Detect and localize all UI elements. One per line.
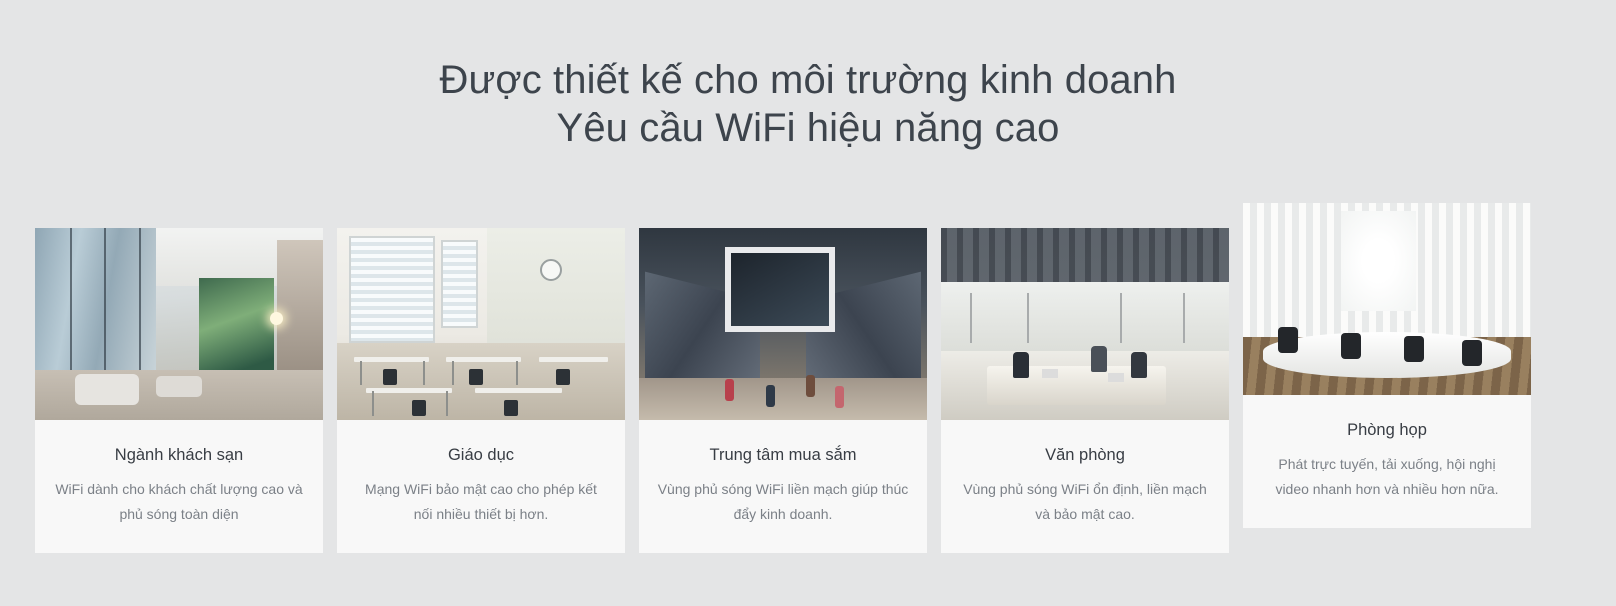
card-title: Văn phòng [959, 444, 1211, 466]
use-case-card[interactable]: Văn phòng Vùng phủ sóng WiFi ổn định, li… [941, 228, 1229, 553]
open-office-photo [941, 228, 1229, 420]
card-description: Vùng phủ sóng WiFi liền mạch giúp thúc đ… [657, 477, 909, 527]
card-title: Phòng họp [1261, 419, 1513, 441]
card-description: Vùng phủ sóng WiFi ổn định, liền mạch và… [959, 477, 1211, 527]
use-case-card[interactable]: Ngành khách sạn WiFi dành cho khách chất… [35, 228, 323, 553]
page-root: Được thiết kế cho môi trường kinh doanh … [0, 0, 1616, 606]
shopping-mall-photo [639, 228, 927, 420]
card-description: WiFi dành cho khách chất lượng cao và ph… [53, 477, 305, 527]
use-case-card[interactable]: Giáo dục Mạng WiFi bảo mật cao cho phép … [337, 228, 625, 553]
card-description: Mạng WiFi bảo mật cao cho phép kết nối n… [355, 477, 607, 527]
card-text-panel: Giáo dục Mạng WiFi bảo mật cao cho phép … [337, 420, 625, 553]
use-case-card[interactable]: Trung tâm mua sắm Vùng phủ sóng WiFi liề… [639, 228, 927, 553]
page-title-line-1: Được thiết kế cho môi trường kinh doanh [0, 56, 1616, 104]
hotel-lobby-photo [35, 228, 323, 420]
card-title: Giáo dục [355, 444, 607, 466]
card-title: Ngành khách sạn [53, 444, 305, 466]
page-title: Được thiết kế cho môi trường kinh doanh … [0, 56, 1616, 152]
card-title: Trung tâm mua sắm [657, 444, 909, 466]
card-text-panel: Văn phòng Vùng phủ sóng WiFi ổn định, li… [941, 420, 1229, 553]
use-case-card[interactable]: Phòng họp Phát trực tuyến, tải xuống, hộ… [1243, 203, 1531, 528]
card-text-panel: Trung tâm mua sắm Vùng phủ sóng WiFi liề… [639, 420, 927, 553]
card-description: Phát trực tuyến, tải xuống, hội nghị vid… [1261, 452, 1513, 502]
use-case-card-row: Ngành khách sạn WiFi dành cho khách chất… [35, 203, 1581, 563]
card-text-panel: Ngành khách sạn WiFi dành cho khách chất… [35, 420, 323, 553]
page-title-line-2: Yêu cầu WiFi hiệu năng cao [0, 104, 1616, 152]
classroom-photo [337, 228, 625, 420]
meeting-room-photo [1243, 203, 1531, 395]
card-text-panel: Phòng họp Phát trực tuyến, tải xuống, hộ… [1243, 395, 1531, 528]
